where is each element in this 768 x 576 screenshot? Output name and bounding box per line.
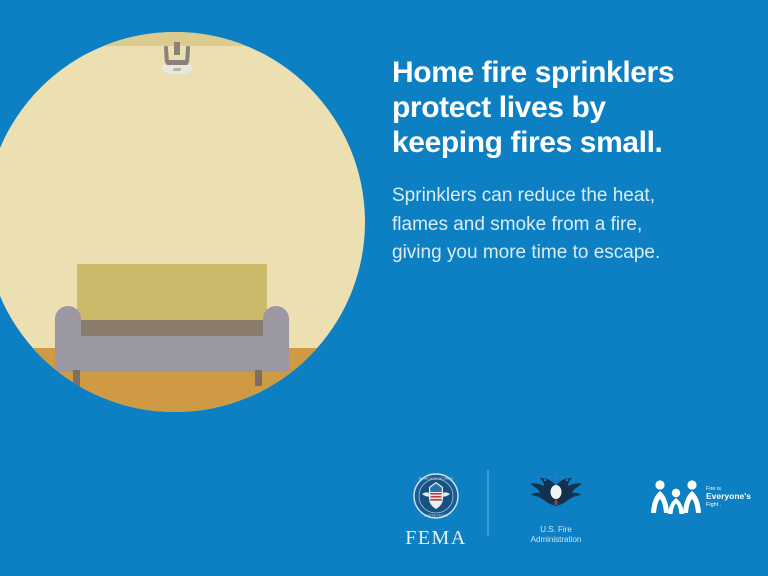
sofa-leg-left — [73, 370, 80, 386]
people-figures-icon — [650, 476, 702, 516]
copy-block: Home fire sprinklers protect lives by ke… — [392, 56, 744, 267]
sofa-leg-right — [255, 370, 262, 386]
illustration-circle — [0, 32, 365, 412]
logo-row: HOMELAND SECURITY UNITED STATES FEMA — [392, 466, 752, 546]
fief-line-2: Everyone's — [706, 492, 762, 502]
fire-is-everyones-fight-logo: Fire is Everyone's Fight . — [650, 476, 760, 532]
fire-is-everyones-fight-wordmark: Fire is Everyone's Fight . — [706, 486, 762, 508]
sofa-back-cushion — [77, 264, 267, 326]
body-line-2: flames and smoke from a fire, — [392, 211, 744, 239]
sprinkler-orifice — [173, 68, 181, 71]
usfa-line-2: Administration — [510, 535, 602, 545]
fema-seal-icon: HOMELAND SECURITY UNITED STATES — [412, 472, 460, 520]
body-text: Sprinklers can reduce the heat, flames a… — [392, 182, 744, 266]
logo-divider — [487, 470, 489, 536]
usfa-eagle-icon — [526, 472, 586, 518]
headline: Home fire sprinklers protect lives by ke… — [392, 56, 744, 160]
fema-logo: HOMELAND SECURITY UNITED STATES FEMA — [400, 472, 472, 550]
usfa-logo: U.S. Fire Administration — [510, 472, 602, 546]
headline-line-2: protect lives by — [392, 91, 744, 126]
room-scene — [0, 32, 365, 412]
fema-wordmark: FEMA — [400, 527, 472, 550]
body-line-1: Sprinklers can reduce the heat, — [392, 182, 744, 210]
sprinkler-head-icon — [160, 42, 194, 76]
headline-line-1: Home fire sprinklers — [392, 56, 744, 91]
sofa — [47, 264, 297, 382]
sprinkler-stem — [174, 42, 180, 55]
sofa-base — [55, 336, 289, 372]
usfa-line-1: U.S. Fire — [510, 525, 602, 535]
usfa-wordmark: U.S. Fire Administration — [510, 525, 602, 546]
body-line-3: giving you more time to escape. — [392, 239, 744, 267]
poster-canvas: Home fire sprinklers protect lives by ke… — [0, 0, 768, 576]
svg-text:UNITED STATES: UNITED STATES — [424, 514, 448, 518]
svg-text:HOMELAND SECURITY: HOMELAND SECURITY — [419, 477, 454, 481]
headline-line-3: keeping fires small. — [392, 126, 744, 161]
fief-line-3: Fight . — [706, 502, 762, 508]
